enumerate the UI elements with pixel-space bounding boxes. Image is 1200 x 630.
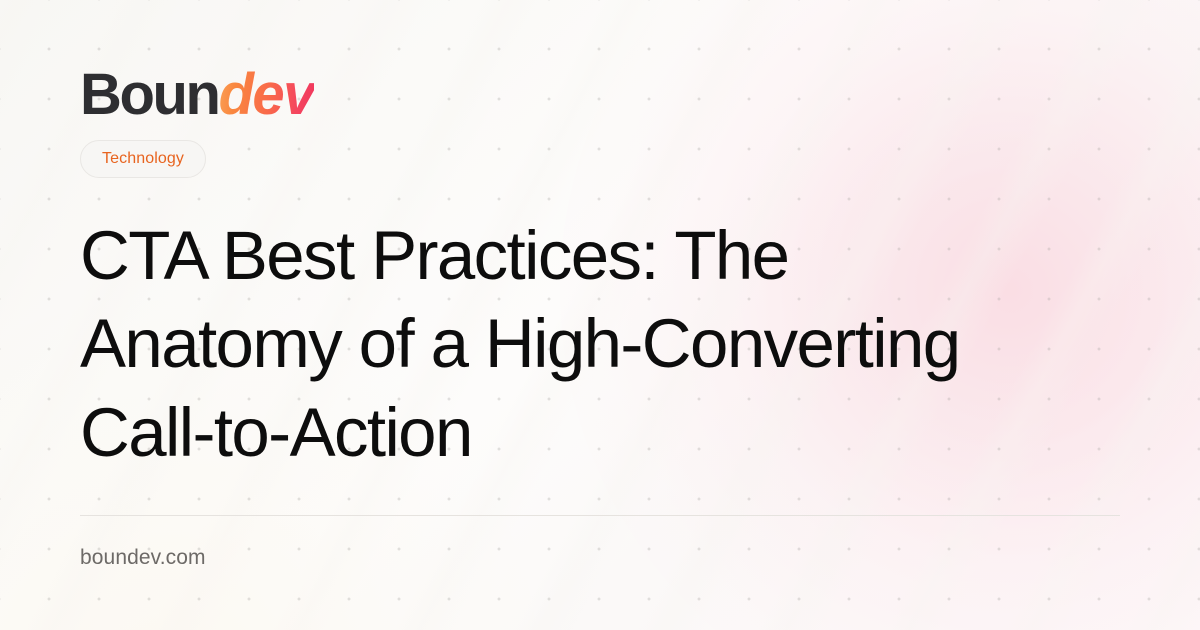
brand-logo-primary: Boun bbox=[80, 62, 219, 127]
card-content: Boundev Technology CTA Best Practices: T… bbox=[80, 0, 1120, 630]
category-badge-row: Technology bbox=[80, 140, 1120, 178]
page-title: CTA Best Practices: The Anatomy of a Hig… bbox=[80, 212, 980, 477]
footer-divider bbox=[80, 515, 1120, 516]
brand-logo[interactable]: Boundev bbox=[80, 66, 1120, 124]
brand-logo-accent: dev bbox=[219, 62, 314, 127]
category-badge[interactable]: Technology bbox=[80, 140, 206, 178]
site-url[interactable]: boundev.com bbox=[80, 546, 1120, 570]
og-card: Boundev Technology CTA Best Practices: T… bbox=[0, 0, 1200, 630]
